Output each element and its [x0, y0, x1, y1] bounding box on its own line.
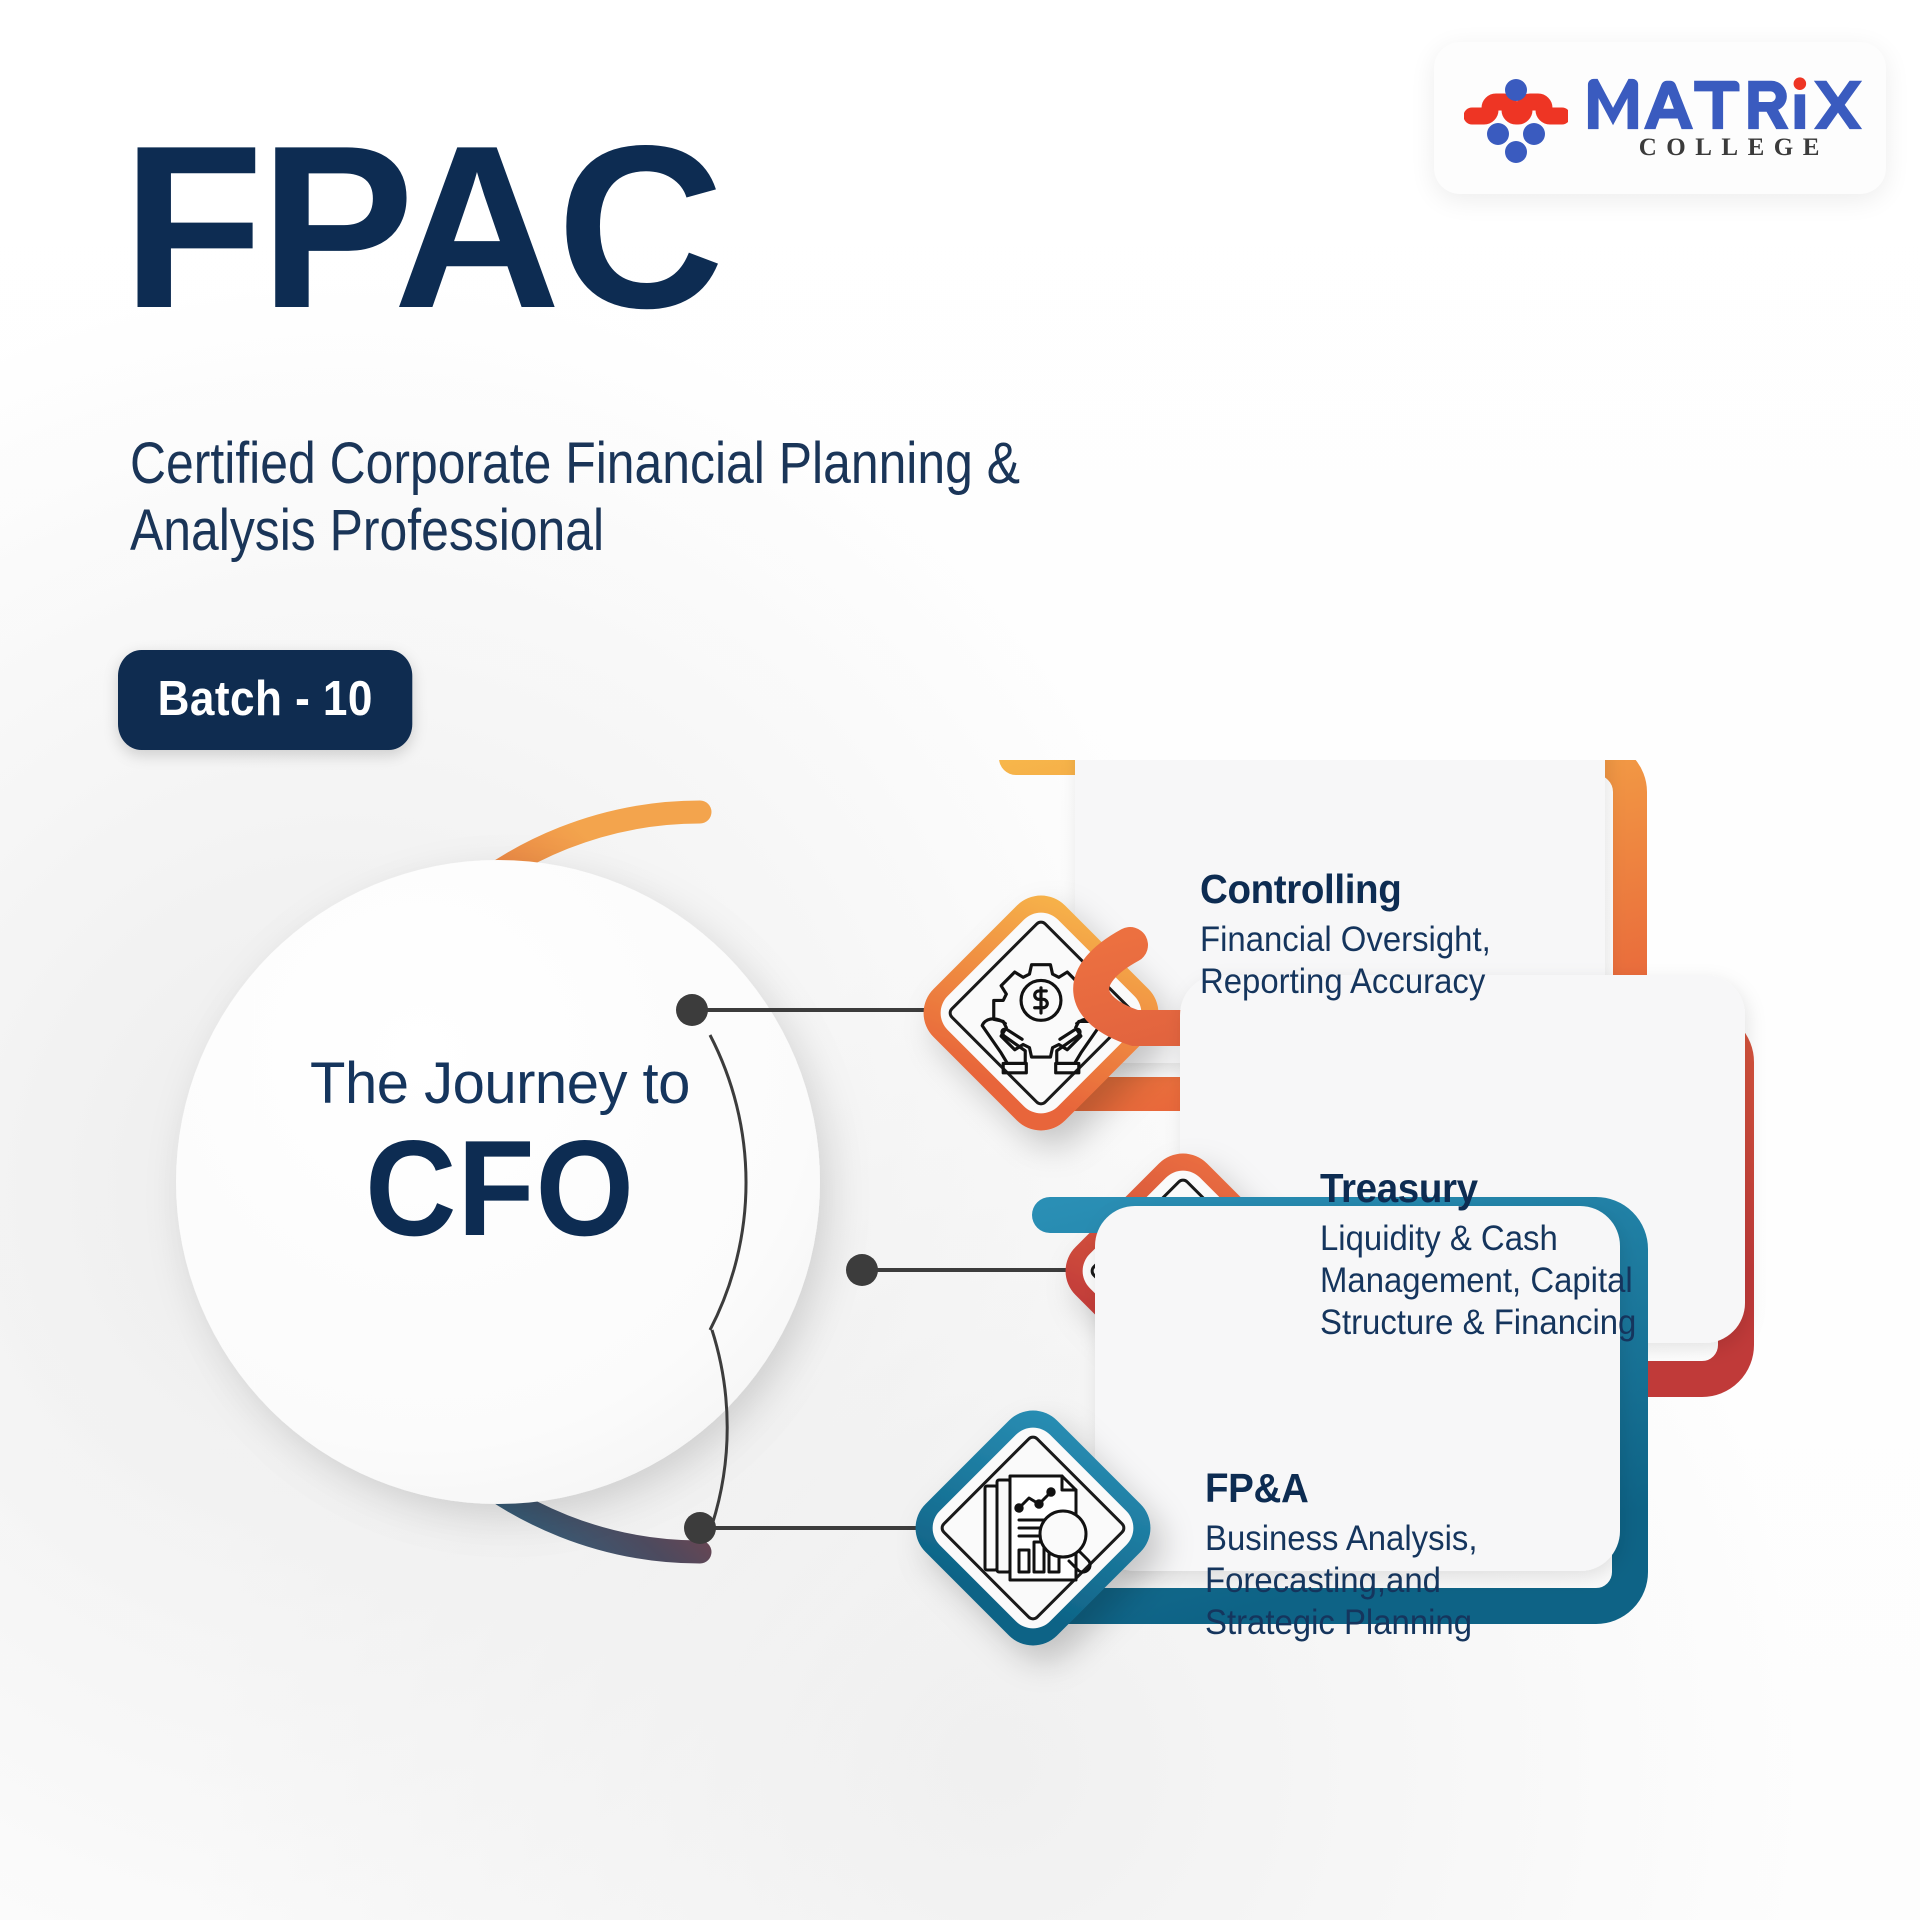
page-title: FPAC — [122, 118, 720, 338]
card-text-treasury: Treasury Liquidity & Cash Management, Ca… — [1320, 1165, 1760, 1344]
card-desc-treasury-2: Management, Capital — [1320, 1260, 1734, 1302]
card-desc-treasury-3: Structure & Financing — [1320, 1302, 1734, 1344]
card-desc-fpa-2: Forecasting,and — [1205, 1560, 1609, 1602]
subtitle-line-1: Certified Corporate Financial Planning & — [130, 430, 1042, 497]
hub-circle — [176, 860, 820, 1504]
connector-dot-fpa — [684, 1512, 716, 1544]
card-text-controlling: Controlling Financial Oversight, Reporti… — [1200, 866, 1630, 1003]
card-desc-fpa-3: Strategic Planning — [1205, 1602, 1609, 1644]
matrix-wordmark — [1586, 75, 1876, 131]
card-desc-treasury-1: Liquidity & Cash — [1320, 1218, 1734, 1260]
card-title-treasury: Treasury — [1320, 1165, 1734, 1212]
connector-dot-controlling — [676, 994, 708, 1026]
card-text-fpa: FP&A Business Analysis, Forecasting,and … — [1205, 1465, 1635, 1644]
card-desc-fpa-1: Business Analysis, — [1205, 1518, 1609, 1560]
batch-badge: Batch - 10 — [118, 650, 412, 750]
page-subtitle: Certified Corporate Financial Planning &… — [130, 430, 1042, 565]
matrix-dots-logo-icon — [1464, 72, 1568, 164]
connector-dot-treasury — [846, 1254, 878, 1286]
card-title-fpa: FP&A — [1205, 1465, 1609, 1512]
logo-subtext: COLLEGE — [1586, 134, 1876, 162]
subtitle-line-2: Analysis Professional — [130, 497, 1042, 564]
brand-logo: COLLEGE — [1434, 42, 1886, 194]
card-desc-controlling-2: Reporting Accuracy — [1200, 961, 1604, 1003]
card-title-controlling: Controlling — [1200, 866, 1604, 913]
card-desc-controlling-1: Financial Oversight, — [1200, 919, 1604, 961]
